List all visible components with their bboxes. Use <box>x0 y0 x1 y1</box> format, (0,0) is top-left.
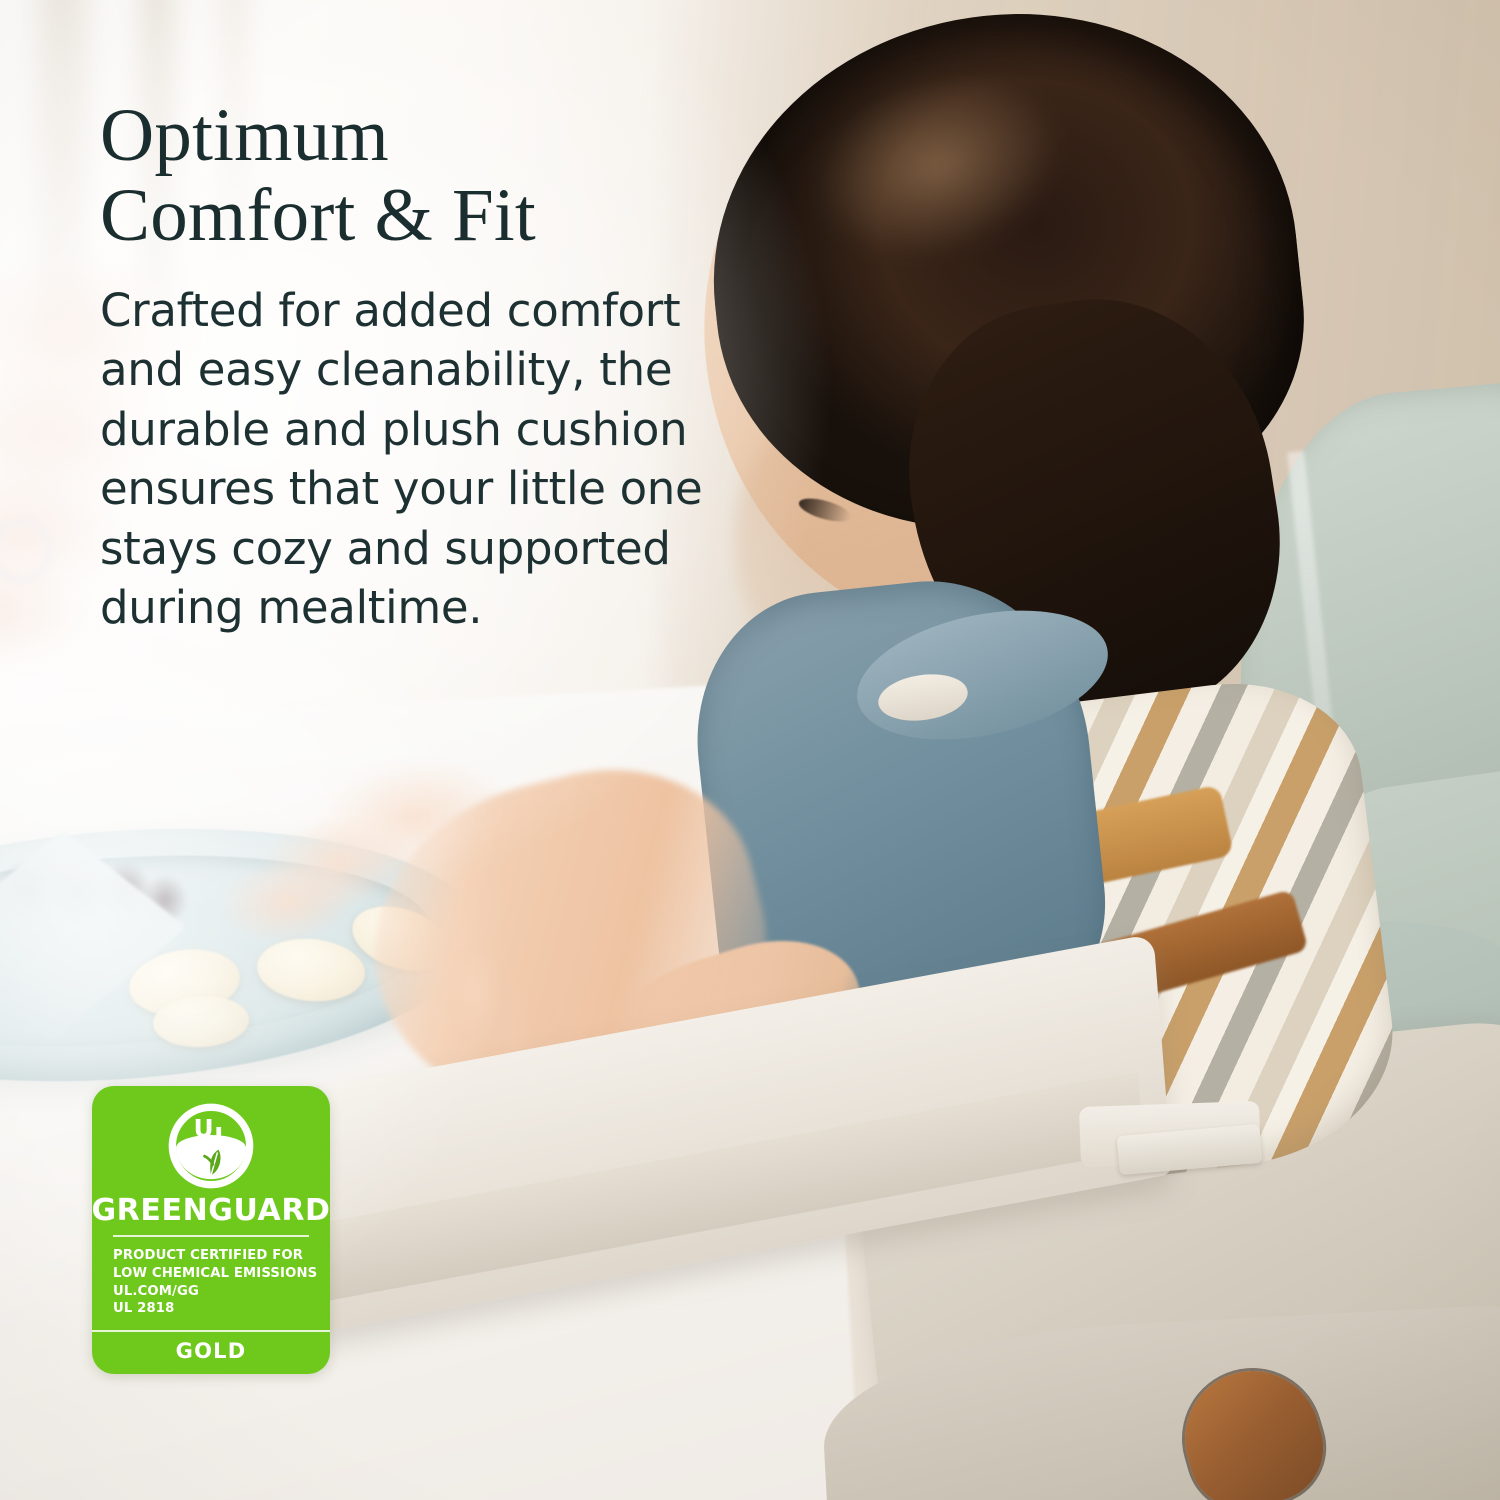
badge-line-4: UL 2818 <box>113 1300 309 1318</box>
badge-title: GREENGUARD <box>92 1196 330 1226</box>
toddler-hand <box>207 742 527 982</box>
badge-line-3: UL.COM/GG <box>113 1283 309 1301</box>
svg-text:L: L <box>214 1122 230 1151</box>
badge-line-2: LOW CHEMICAL EMISSIONS <box>113 1265 309 1283</box>
svg-text:U: U <box>194 1114 214 1143</box>
page-title: Optimum Comfort & Fit <box>100 96 740 255</box>
greenguard-gold-badge: U L GREENGUARD PRODUCT CERTIFIED FOR LOW… <box>92 1086 330 1374</box>
ul-certification-icon: U L <box>165 1100 257 1192</box>
badge-divider <box>113 1235 309 1237</box>
marketing-image: Optimum Comfort & Fit Crafted for added … <box>0 0 1500 1500</box>
body-paragraph: Crafted for added comfort and easy clean… <box>100 281 740 637</box>
badge-fine-print: PRODUCT CERTIFIED FOR LOW CHEMICAL EMISS… <box>113 1247 309 1318</box>
copy-block: Optimum Comfort & Fit Crafted for added … <box>100 96 740 637</box>
badge-level: GOLD <box>92 1330 330 1374</box>
badge-line-1: PRODUCT CERTIFIED FOR <box>113 1247 309 1265</box>
